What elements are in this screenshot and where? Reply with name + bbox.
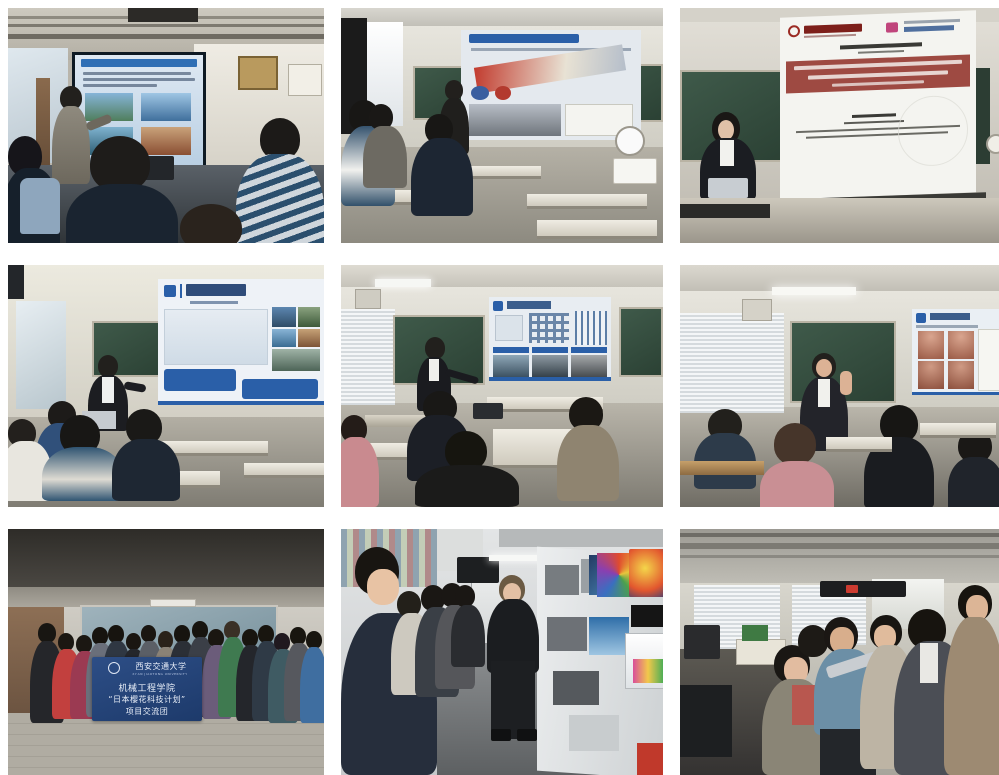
photo-6[interactable]: Presenter speaking with raised hand befo…: [680, 265, 999, 507]
program-line: [840, 42, 922, 49]
presenter-email: [844, 120, 904, 124]
slide-label: [493, 347, 529, 353]
presenter-collar: [720, 140, 734, 166]
overhead-equipment: [820, 581, 906, 597]
entrance-canopy: [8, 529, 324, 589]
presenter-name: [852, 113, 896, 118]
desk: [527, 194, 647, 209]
slide-diagram: [164, 309, 268, 365]
ceiling-duct: [680, 543, 999, 549]
banner-university-sub: XI'AN JIAOTONG UNIVERSITY: [122, 672, 198, 676]
laptop: [473, 403, 503, 419]
slide-title: [507, 301, 551, 309]
university-seal-icon: [108, 662, 120, 674]
banner-line-3: 项目交流团: [92, 706, 202, 717]
photo-2[interactable]: Speaker presenting in a classroom with g…: [341, 8, 663, 243]
wall-vent: [742, 299, 772, 321]
slide-title-bar: [81, 59, 197, 67]
slide-callout: [164, 369, 236, 391]
person-head: [141, 625, 156, 642]
slide-title-bar: [786, 54, 970, 93]
projection-screen: [912, 309, 999, 395]
slide-callout: [242, 379, 318, 399]
poster: [629, 549, 663, 597]
attendee-body: [112, 439, 180, 501]
presenter-body: [52, 106, 90, 184]
attendee-head: [774, 423, 816, 465]
slide-subtitle: [190, 301, 238, 304]
slide-title-bar: [469, 34, 579, 43]
laptop: [708, 178, 748, 198]
wall-clock: [615, 126, 645, 156]
presenter-face: [816, 359, 832, 377]
wall-clock: [986, 134, 999, 154]
window-blinds: [680, 313, 784, 413]
attendee-body: [760, 461, 834, 507]
watermark: [898, 95, 968, 168]
presenter-head: [425, 337, 445, 359]
lab-frame: [680, 685, 732, 757]
chalkboard-right: [619, 307, 663, 377]
presenter-shirt-collar: [102, 377, 114, 403]
window: [16, 301, 66, 409]
lab-equipment: [742, 625, 768, 641]
speaker-legs: [491, 661, 535, 739]
slide-photo: [141, 127, 191, 155]
attendee-body: [948, 457, 999, 507]
attendee-body: [415, 465, 519, 507]
desk: [244, 463, 324, 478]
university-name-en: [804, 34, 856, 38]
poster: [547, 617, 587, 651]
banner: 西安交通大学 XI'AN JIAOTONG UNIVERSITY 机械工程学院 …: [92, 657, 202, 721]
banner-line-1: 机械工程学院: [92, 681, 202, 694]
entrance-sign: [150, 599, 196, 607]
photo-8[interactable]: Lab tour: a man explains posters along a…: [341, 529, 663, 775]
poster: [589, 617, 629, 655]
slide-icon: [471, 86, 489, 100]
visitor-head: [455, 585, 475, 607]
wall-poster: [238, 56, 278, 90]
ceiling-pipe: [680, 555, 999, 558]
visitor-face: [367, 569, 399, 605]
photo-5[interactable]: Speaker in a suit pointing to the screen…: [341, 265, 663, 507]
indicator-light: [846, 585, 858, 593]
projection-screen: [461, 30, 641, 140]
visitor-body: [451, 605, 485, 667]
ceiling-rail: [680, 533, 999, 537]
ceiling-duct: [8, 34, 324, 39]
lectern-top: [680, 204, 770, 218]
ceiling-light: [772, 287, 856, 295]
window-blinds: [341, 309, 395, 405]
presenter-collar: [429, 359, 439, 381]
poster-dark: [631, 605, 663, 627]
slide-number-icon: [164, 285, 176, 297]
slide-label: [571, 347, 607, 353]
slide-title: [930, 313, 970, 320]
university-seal: [788, 25, 800, 37]
desk: [680, 461, 764, 475]
person-head: [126, 633, 141, 650]
photo-4[interactable]: Introduction Male presenter gesturing at…: [8, 265, 324, 507]
presenter-head: [445, 80, 463, 100]
desk: [537, 220, 657, 239]
photo-3[interactable]: Study on the interconnection mechanism o…: [680, 8, 999, 243]
projection-screen: [158, 279, 324, 405]
speaker-shoe: [491, 729, 511, 741]
presenter-collar: [818, 379, 830, 407]
poster: [569, 715, 619, 751]
poster: [633, 659, 663, 683]
desk: [920, 423, 996, 438]
slide-icon: [495, 86, 511, 100]
program-date: [858, 50, 904, 54]
speaker-shoe: [517, 729, 537, 741]
ceiling-light: [375, 279, 431, 287]
slide-diagram: [474, 44, 626, 93]
attendee-body: [411, 138, 473, 216]
person-head: [38, 623, 56, 643]
university-name-cn: [804, 24, 862, 34]
presenter-face: [718, 120, 734, 140]
wall-vent: [355, 289, 381, 309]
presenter-hand: [840, 371, 852, 395]
chair: [20, 178, 60, 234]
poster: [545, 565, 579, 595]
ceiling-fixture: [8, 265, 24, 299]
attendee-body: [66, 184, 178, 243]
slide-text-panel: [978, 329, 999, 391]
slide-title: [186, 284, 246, 296]
attendee-body: [363, 126, 407, 188]
ceiling: [499, 529, 663, 547]
ceiling-pipe: [8, 24, 324, 27]
projection-screen: [780, 10, 976, 200]
photo-1[interactable]: Presenter beside projection screen in a …: [8, 8, 324, 243]
projection-screen: [489, 297, 611, 381]
slide-micrograph: [469, 104, 561, 136]
person-body: [300, 647, 324, 723]
slide-number-icon: [493, 301, 503, 311]
presenter-head: [98, 355, 118, 377]
attendee-body: [341, 437, 379, 507]
photo-9[interactable]: Visitors gathered around equipment in a …: [680, 529, 999, 775]
sakura-logo-icon: [886, 22, 898, 32]
slide-number-icon: [916, 313, 926, 323]
wall-notice: [288, 64, 322, 96]
attendee-body: [557, 425, 619, 501]
slide-label: [532, 347, 568, 353]
slide-photo: [141, 93, 191, 121]
ceiling-projector: [128, 8, 198, 22]
person-collar: [920, 643, 938, 683]
banner-line-2: “日本樱花科技计划”: [92, 694, 202, 705]
poster: [637, 743, 663, 775]
banner-university: 西安交通大学: [124, 661, 198, 672]
attendee-body-striped: [236, 154, 324, 243]
poster: [553, 671, 599, 705]
desk: [826, 437, 892, 452]
person-body: [944, 617, 999, 775]
photo-7[interactable]: 西安交通大学 XI'AN JIAOTONG UNIVERSITY 机械工程学院 …: [8, 529, 324, 775]
monitor: [684, 625, 720, 659]
photo-grid: Presenter beside projection screen in a …: [0, 0, 999, 773]
sink: [613, 158, 657, 184]
